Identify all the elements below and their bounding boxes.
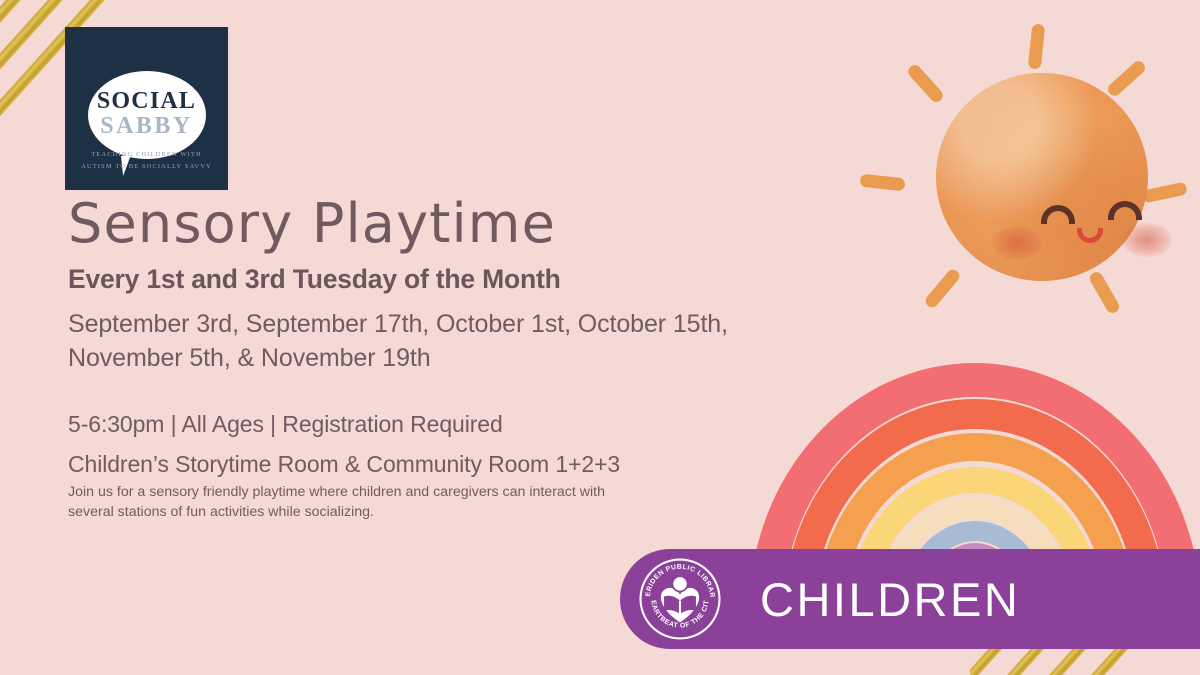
logo-line-sabby: SABBY — [100, 113, 193, 141]
library-seal-icon: MERIDEN PUBLIC LIBRARY HEARTBEAT OF THE … — [638, 557, 722, 641]
speech-bubble-icon: SOCIAL SABBY — [88, 71, 206, 159]
logo-tagline: TEACHING CHILDREN WITH AUTISM TO BE SOCI… — [65, 149, 228, 173]
event-location: Children’s Storytime Room & Community Ro… — [68, 445, 768, 485]
event-time-ages-registration: 5-6:30pm | All Ages | Registration Requi… — [68, 405, 768, 445]
event-schedule: Every 1st and 3rd Tuesday of the Month — [68, 264, 561, 295]
logo-tagline-line-1: TEACHING CHILDREN WITH — [65, 149, 228, 161]
social-sabby-logo: SOCIAL SABBY TEACHING CHILDREN WITH AUTI… — [65, 27, 228, 190]
category-banner: MERIDEN PUBLIC LIBRARY HEARTBEAT OF THE … — [620, 549, 1200, 649]
sun-smile — [1077, 228, 1103, 243]
logo-tagline-line-2: AUTISM TO BE SOCIALLY SAVVY — [65, 161, 228, 173]
sun-cheek-left — [992, 226, 1042, 260]
category-label: CHILDREN — [760, 572, 1020, 627]
sun-icon — [880, 18, 1172, 314]
sun-eye-right — [1108, 201, 1142, 220]
sun-cheek-right — [1122, 223, 1172, 257]
sun-eye-left — [1041, 205, 1075, 224]
event-details: 5-6:30pm | All Ages | Registration Requi… — [68, 405, 768, 484]
event-dates: September 3rd, September 17th, October 1… — [68, 307, 748, 375]
sun-face — [936, 73, 1148, 281]
event-title: Sensory Playtime — [68, 192, 556, 255]
event-description: Join us for a sensory friendly playtime … — [68, 482, 643, 522]
logo-line-social: SOCIAL — [97, 89, 196, 113]
